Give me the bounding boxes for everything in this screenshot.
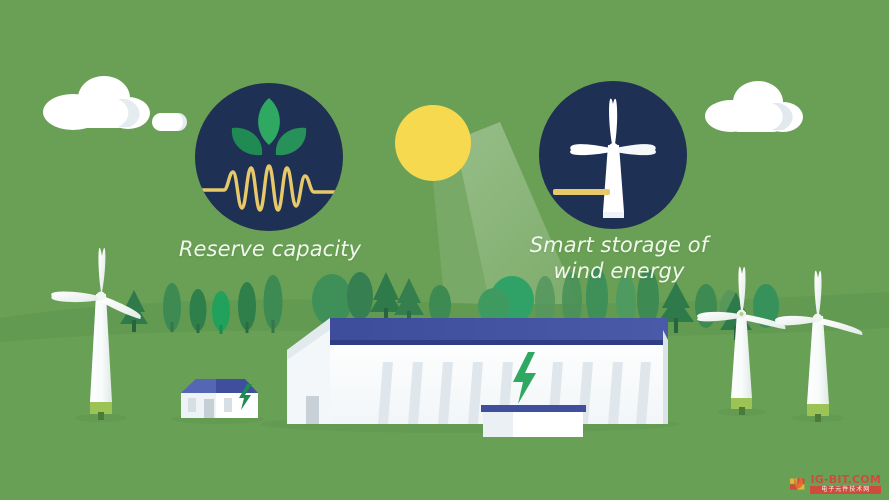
gold-bar-icon bbox=[553, 189, 610, 195]
badge-smart-storage[interactable] bbox=[539, 81, 687, 229]
flame-logo-icon bbox=[790, 476, 807, 493]
scene-svg bbox=[0, 0, 889, 500]
turbine-rf-hub bbox=[813, 314, 822, 323]
caption-smart-storage: Smart storage of wind energy bbox=[520, 232, 718, 284]
cloud-small-left bbox=[152, 113, 187, 131]
watermark-text: IG-BIT.COM 电子元件技术网 bbox=[810, 474, 881, 494]
house-window-left bbox=[188, 398, 196, 412]
turbine-left-hub bbox=[97, 292, 106, 301]
watermark-domain: IG-BIT.COM bbox=[810, 474, 881, 485]
badge-reserve-capacity[interactable] bbox=[195, 83, 343, 231]
site-watermark: IG-BIT.COM 电子元件技术网 bbox=[790, 474, 881, 494]
battery-storage-facility bbox=[260, 318, 680, 437]
sun bbox=[395, 105, 471, 181]
front-platform-wall-shade bbox=[483, 411, 513, 437]
house-window-right bbox=[224, 398, 232, 412]
turbine-rf-foot bbox=[815, 414, 821, 422]
turbine-left-foot bbox=[98, 412, 104, 420]
turbine-rn-foot bbox=[739, 407, 745, 415]
front-platform-roof bbox=[481, 405, 586, 412]
hall-right-end bbox=[663, 330, 668, 424]
hall-main-roof-edge bbox=[330, 340, 668, 345]
watermark-subtitle: 电子元件技术网 bbox=[810, 486, 881, 494]
hall-main-roof bbox=[330, 318, 668, 340]
caption-reserve-capacity: Reserve capacity bbox=[178, 236, 362, 262]
house-door bbox=[204, 399, 214, 418]
hall-left-door bbox=[306, 396, 319, 424]
illustration-canvas: Reserve capacity Smart storage of wind e… bbox=[0, 0, 889, 500]
